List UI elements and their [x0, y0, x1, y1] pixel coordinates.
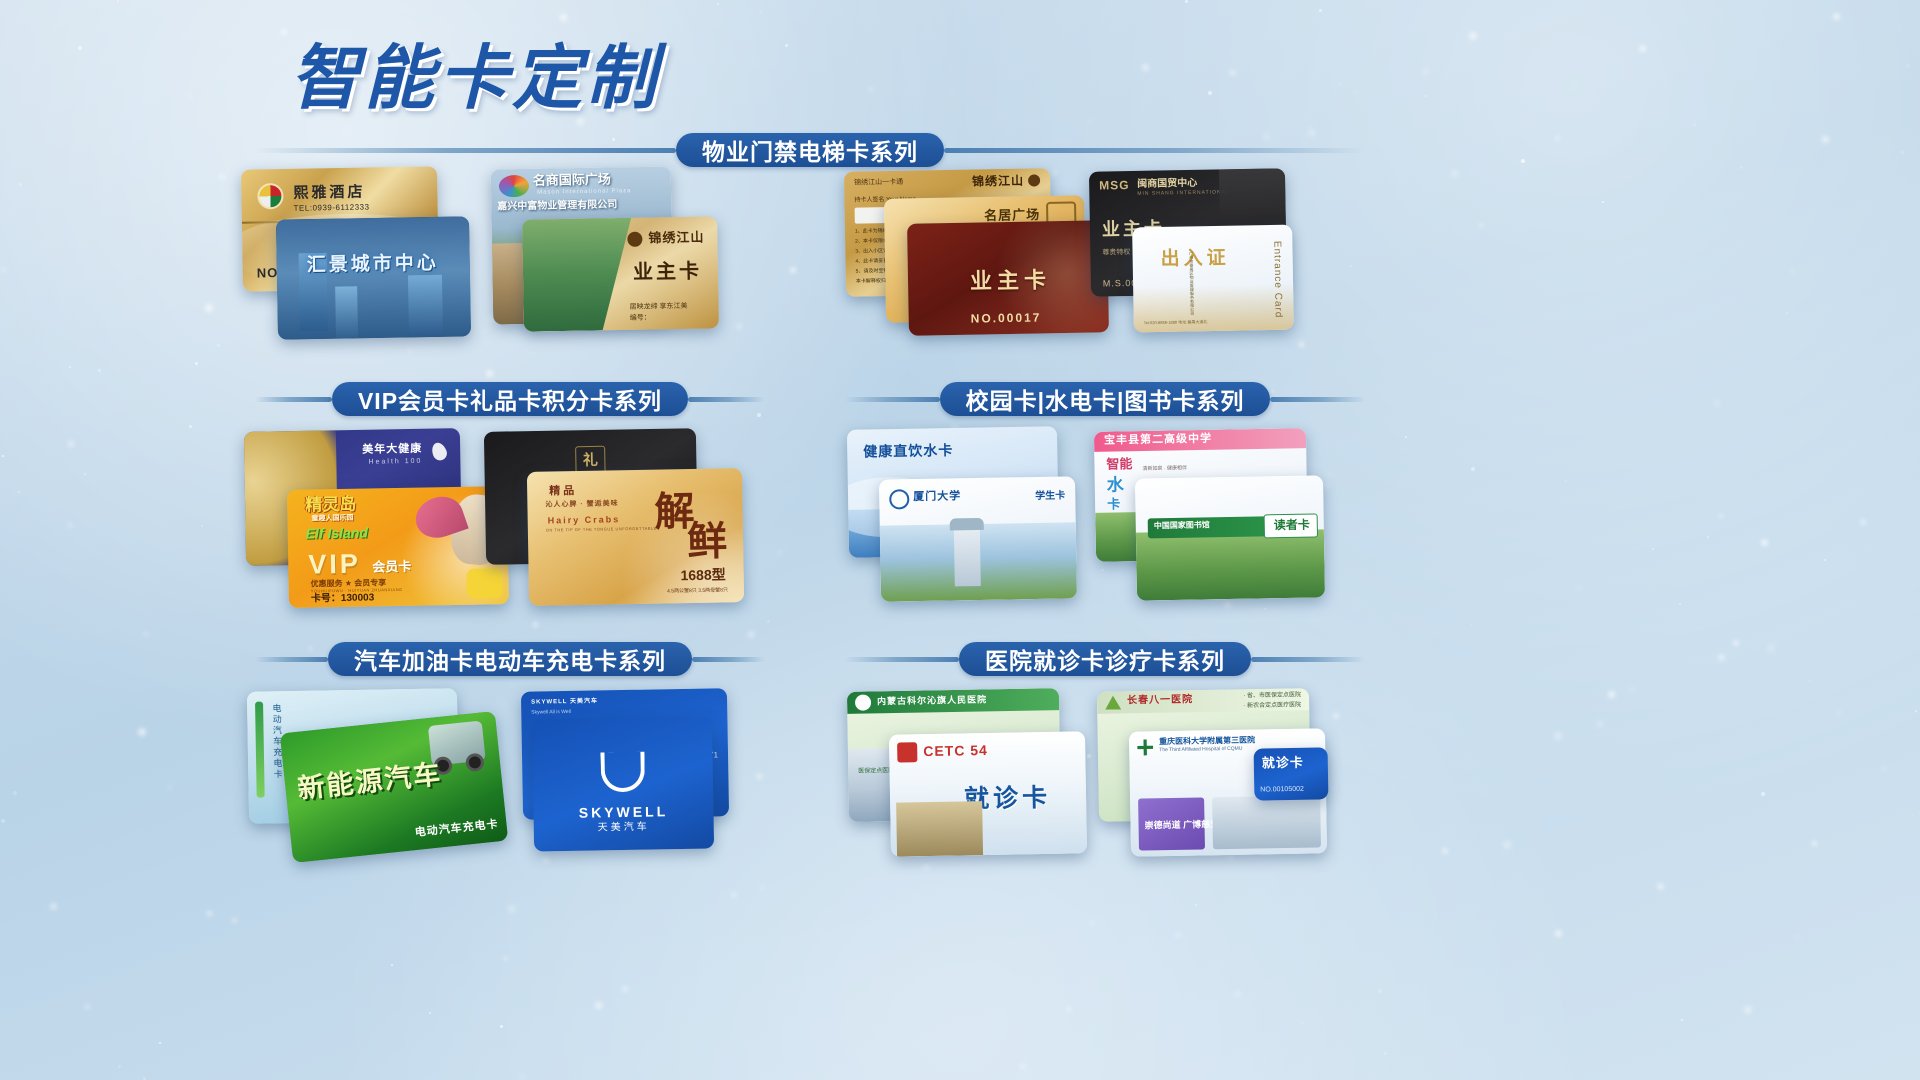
section-banner-fuel: 汽车加油卡电动车充电卡系列 — [255, 642, 765, 676]
crab-slogan-zh: 沁人心脾 · 蟹逅美味 — [545, 500, 618, 509]
entrance-card[interactable]: 出入证 Entrance Card 广州市番禺区物业管理服务有限公司 Tel:0… — [1132, 225, 1294, 333]
section-banner-vip: VIP会员卡礼品卡积分卡系列 — [255, 382, 765, 416]
cetc54-label: CETC 54 — [923, 742, 988, 759]
cqmu-name-zh: 重庆医科大学附属第三医院 — [1159, 736, 1255, 747]
changchun81-name: 长春八一医院 — [1127, 694, 1193, 707]
banner-line-left — [845, 657, 959, 662]
city-center-name: 汇景城市中心 — [307, 253, 439, 277]
hairy-crabs-card[interactable]: 精品 沁人心脾 · 蟹逅美味 Hairy Crabs ON THE TIP OF… — [527, 468, 744, 606]
xmu-student-label: 学生卡 — [1035, 490, 1065, 502]
minshang-logo: MSG — [1099, 179, 1130, 193]
hotel-tel: TEL:0939-6112333 — [294, 202, 370, 213]
plaza-company: 嘉兴中富物业管理有限公司 — [497, 199, 617, 213]
library-reader-label: 读者卡 — [1274, 519, 1310, 533]
cetc54-card[interactable]: CETC 54 就诊卡 — [889, 731, 1087, 856]
entrance-card-issuer: 广州市番禺区物业管理服务有限公司 — [1189, 251, 1195, 315]
vip-word: VIP — [308, 549, 361, 581]
mingju-number: NO.00017 — [971, 312, 1042, 327]
section-banner-label: 汽车加油卡电动车充电卡系列 — [328, 642, 692, 676]
page-title-text: 智能卡定制 — [290, 22, 660, 123]
section-banner-label: 物业门禁电梯卡系列 — [676, 133, 944, 167]
banner-line-right — [688, 397, 765, 402]
gift-card-glyph: 礼 — [583, 452, 598, 470]
health100-name-en: Health 100 — [368, 458, 422, 467]
mingju-owner-label: 业主卡 — [970, 267, 1051, 294]
jinxiu-owner-card[interactable]: 锦绣江山 业主卡 居映龙缔 享东江美 编号： — [522, 216, 719, 331]
smart-water-3: 卡 — [1107, 497, 1120, 512]
crab-name-en: Hairy Crabs — [548, 514, 621, 526]
banner-line-left — [255, 397, 332, 402]
section-banner-hospital: 医院就诊卡诊疗卡系列 — [845, 642, 1365, 676]
vip-member-label: 会员卡 — [372, 560, 411, 576]
skywell-logo-en: SKYWELL — [579, 803, 669, 821]
water-slogan: 清新如泉 · 健康相伴 — [1143, 466, 1188, 473]
section-banner-label: VIP会员卡礼品卡积分卡系列 — [332, 382, 688, 416]
banner-line-right — [692, 657, 765, 662]
smart-water-1: 智能 — [1106, 457, 1132, 472]
jinxiu-brand: 锦绣江山 — [648, 231, 704, 247]
section-banner-label: 医院就诊卡诊疗卡系列 — [959, 642, 1251, 676]
skywell-logo-zh: 天美汽车 — [598, 822, 650, 834]
smart-water-2: 水 — [1107, 475, 1124, 495]
crab-spec-detail: 4.5两公蟹8只 3.5两母蟹8只 — [667, 589, 728, 596]
xmu-name-zh: 厦门大学 — [913, 490, 961, 503]
jinxiu-notice-brand: 锦绣江山 — [972, 175, 1024, 190]
crab-premium-label: 精品 — [549, 485, 577, 498]
baofeng-school-name: 宝丰县第二高级中学 — [1104, 433, 1212, 448]
xiamen-university-card[interactable]: 厦门大学 学生卡 — [879, 476, 1077, 601]
jinxiu-serial-label: 编号： — [630, 314, 651, 322]
health100-name: 美年大健康 — [362, 443, 422, 457]
skywell-tagline: Skywell All is Well — [531, 710, 571, 716]
changchun81-note-1: · 省、市医保定点医院 — [1243, 692, 1301, 700]
section-banner-property: 物业门禁电梯卡系列 — [255, 133, 1365, 167]
vip-card-number: 卡号：130003 — [311, 592, 375, 605]
section-banner-label: 校园卡|水电卡|图书卡系列 — [940, 382, 1271, 416]
minshang-name-en: MIN SHANG INTERNATIONAL — [1137, 190, 1229, 197]
new-energy-car-card[interactable]: 新能源汽车 电动汽车充电卡 — [280, 711, 508, 863]
skywell-brand-top: SKYWELL 天美汽车 — [531, 698, 598, 706]
jinxiu-owner-label: 业主卡 — [633, 261, 702, 285]
crab-char-2: 鲜 — [687, 518, 728, 565]
jinxiu-slogan: 居映龙缔 享东江美 — [630, 303, 688, 312]
minshang-name: 闽商国贸中心 — [1137, 178, 1197, 191]
changchun81-note-2: · 新农合定点医疗医院 — [1243, 702, 1301, 710]
mingju-owner-card[interactable]: 业主卡 NO.00017 — [907, 220, 1109, 335]
drinking-water-label: 健康直饮水卡 — [863, 442, 953, 460]
elf-island-vip-card[interactable]: 精灵岛 童趣人国乐园 Elf Island VIP 会员卡 优惠服务 ★ 会员专… — [287, 486, 509, 608]
section-banner-campus: 校园卡|水电卡|图书卡系列 — [845, 382, 1365, 416]
banner-line-left — [845, 397, 940, 402]
visit-card-number: NO.00105002 — [1260, 786, 1304, 795]
page-title: 智能卡定制 — [290, 22, 660, 123]
elf-island-name-zh: 精灵岛 — [305, 495, 356, 515]
crab-spec: 1688型 — [680, 566, 725, 583]
inner-mongolia-name: 内蒙古科尔沁旗人民医院 — [877, 694, 987, 706]
banner-line-right — [944, 148, 1365, 153]
plaza-name: 名商国际广场 — [533, 172, 611, 188]
library-reader-card[interactable]: 中国国家图书馆 读者卡 — [1135, 475, 1325, 600]
banner-line-left — [255, 148, 676, 153]
cqmu-motto: 崇德尚道 广博慈爱 — [1144, 819, 1219, 831]
visit-card-label: 就诊卡 — [1262, 756, 1304, 772]
hotel-name: 熙雅酒店 — [293, 184, 365, 203]
banner-line-right — [1251, 657, 1365, 662]
entrance-card-title-en: Entrance Card — [1271, 241, 1284, 319]
visit-card-badge[interactable]: 就诊卡 NO.00105002 — [1254, 747, 1329, 800]
library-name: 中国国家图书馆 — [1154, 520, 1210, 530]
jinxiu-notice-title: 锦绣江山一卡通 — [854, 179, 903, 188]
city-center-card[interactable]: 汇景城市中心 — [276, 216, 471, 339]
skywell-logo-card[interactable]: SKYWELL 天美汽车 — [532, 716, 714, 851]
elf-island-name-en: Elf Island — [306, 525, 369, 542]
elf-island-subtitle: 童趣人国乐园 — [311, 515, 353, 524]
banner-line-left — [255, 657, 328, 662]
banner-line-right — [1270, 397, 1365, 402]
entrance-card-title-zh: 出入证 — [1160, 248, 1229, 271]
poster-page: 智能卡定制 物业门禁电梯卡系列 熙雅酒店 TEL:0939-6112333 NO… — [0, 0, 1920, 1080]
